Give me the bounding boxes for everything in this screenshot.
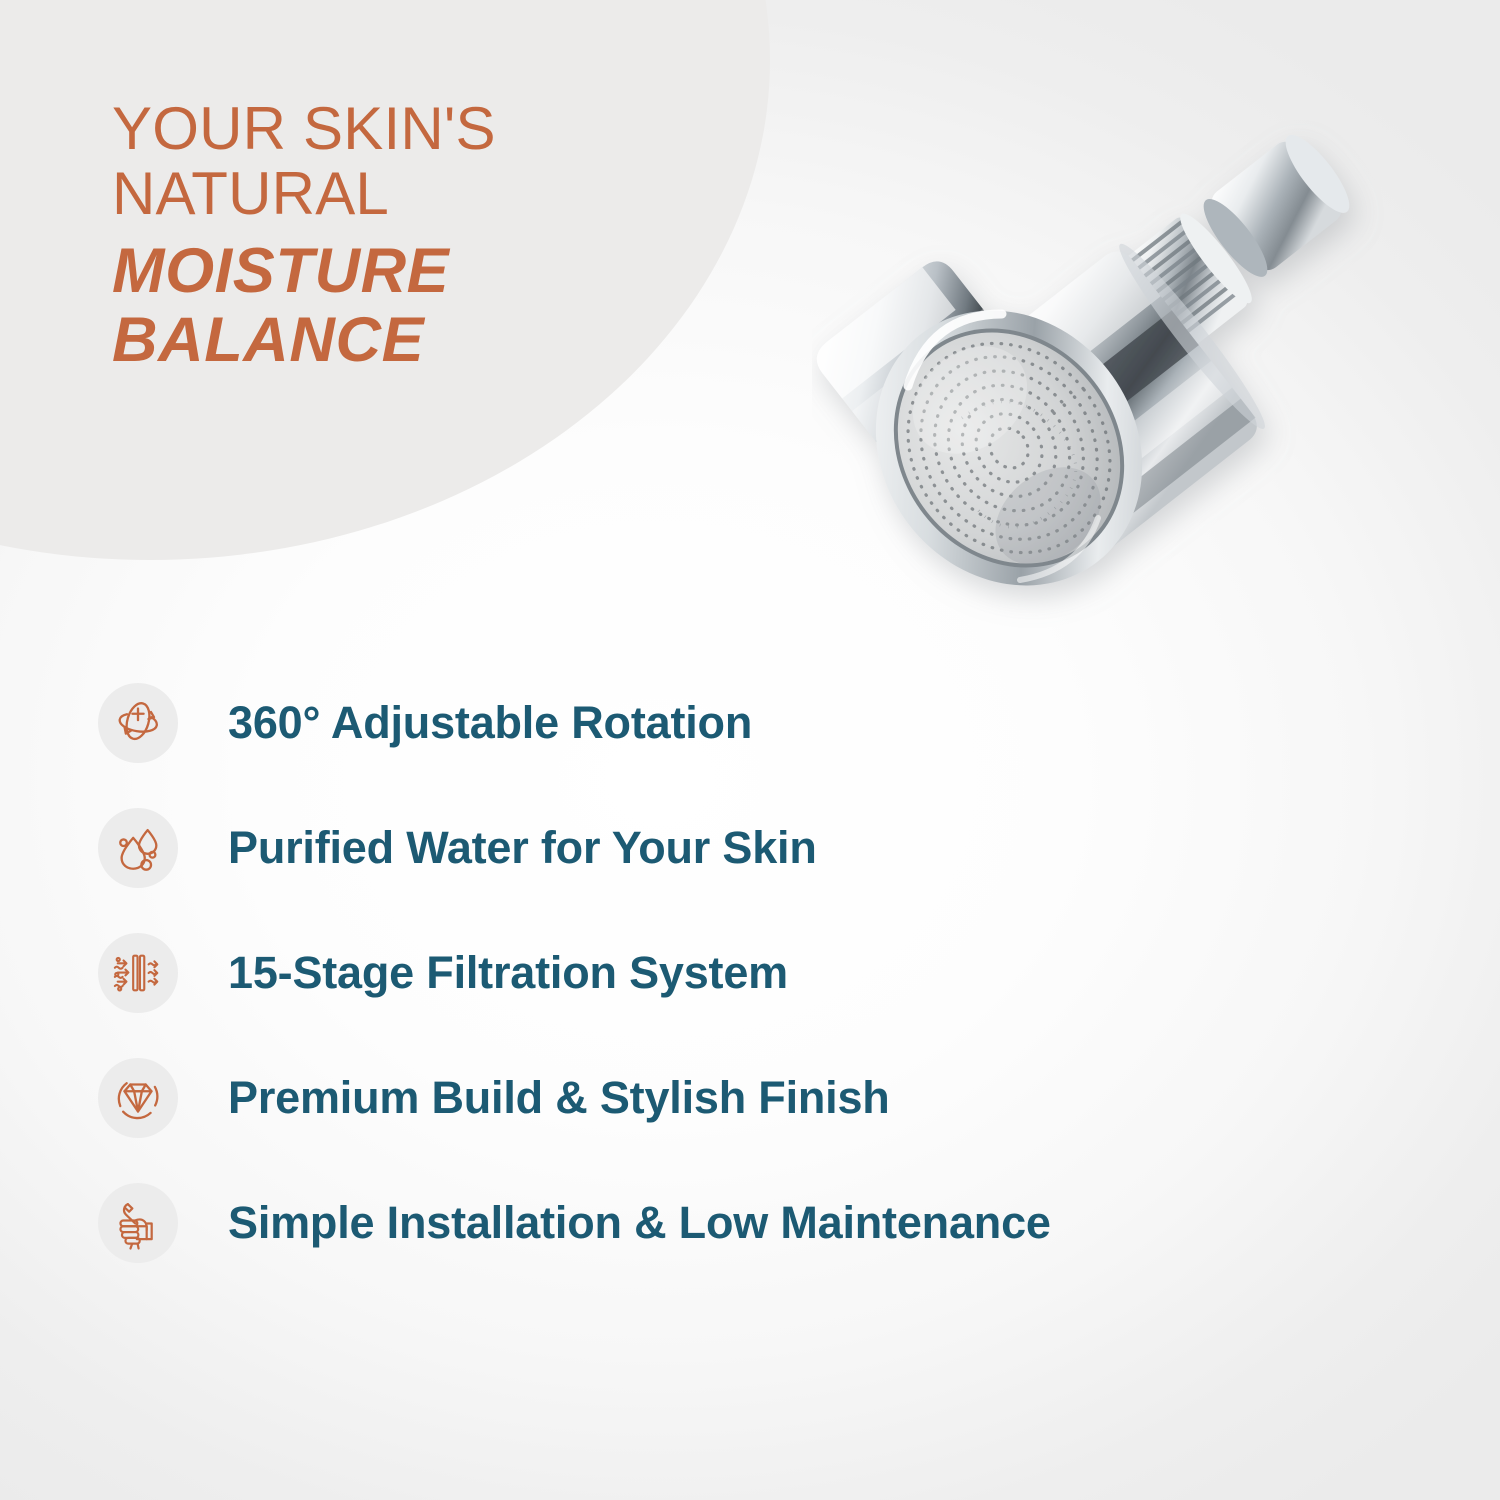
feature-row-filtration: 15-Stage Filtration System bbox=[98, 922, 1428, 1024]
rotation-360-icon bbox=[98, 683, 178, 763]
feature-label-purified-water: Purified Water for Your Skin bbox=[228, 822, 817, 874]
infographic-canvas: YOUR SKIN'S NATURAL MOISTURE BALANCE bbox=[0, 0, 1500, 1500]
feature-row-rotation: 360° Adjustable Rotation bbox=[98, 672, 1428, 774]
page-title: YOUR SKIN'S NATURAL MOISTURE BALANCE bbox=[112, 96, 732, 374]
feature-label-installation: Simple Installation & Low Maintenance bbox=[228, 1197, 1051, 1249]
feature-list: 360° Adjustable Rotation Purified Water … bbox=[98, 672, 1428, 1274]
headline-line-1: YOUR SKIN'S bbox=[112, 96, 732, 161]
feature-label-filtration: 15-Stage Filtration System bbox=[228, 947, 788, 999]
feature-row-premium-build: Premium Build & Stylish Finish bbox=[98, 1047, 1428, 1149]
feature-row-purified-water: Purified Water for Your Skin bbox=[98, 797, 1428, 899]
headline-line-3: MOISTURE bbox=[112, 237, 732, 305]
hand-wrench-icon bbox=[98, 1183, 178, 1263]
headline-line-4: BALANCE bbox=[112, 306, 732, 374]
water-drops-icon bbox=[98, 808, 178, 888]
feature-label-rotation: 360° Adjustable Rotation bbox=[228, 697, 752, 749]
headline-line-2: NATURAL bbox=[112, 161, 732, 226]
feature-row-installation: Simple Installation & Low Maintenance bbox=[98, 1172, 1428, 1274]
feature-label-premium-build: Premium Build & Stylish Finish bbox=[228, 1072, 890, 1124]
filtration-icon bbox=[98, 933, 178, 1013]
diamond-icon bbox=[98, 1058, 178, 1138]
product-image bbox=[812, 118, 1452, 718]
